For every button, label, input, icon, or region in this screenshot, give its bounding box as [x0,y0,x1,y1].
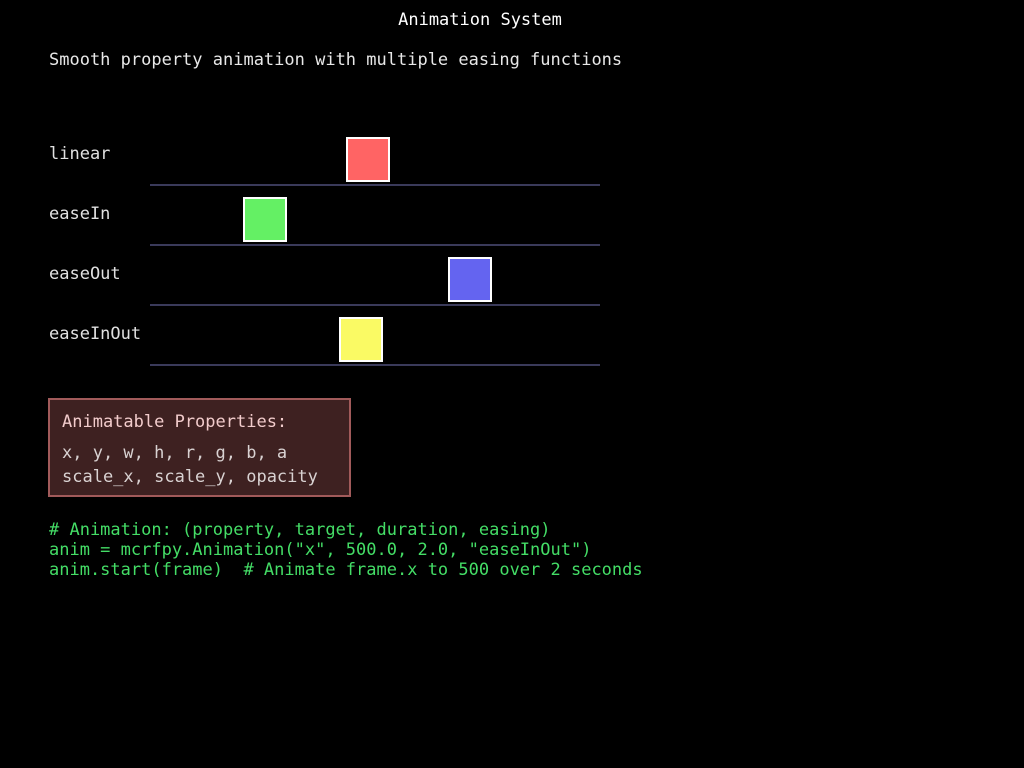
easing-animated-box[interactable] [346,137,390,182]
easing-track-easeout: easeOut [0,245,1024,305]
easing-animated-box[interactable] [448,257,492,302]
code-line: anim = mcrfpy.Animation("x", 500.0, 2.0,… [49,540,643,560]
animatable-properties-line: x, y, w, h, r, g, b, a [62,442,287,464]
easing-track-linear: linear [0,125,1024,185]
easing-track-label: easeOut [49,263,121,285]
easing-animated-box[interactable] [339,317,383,362]
easing-track-line [150,364,600,366]
easing-track-label: easeInOut [49,323,141,345]
easing-animated-box[interactable] [243,197,287,242]
code-line: # Animation: (property, target, duration… [49,520,643,540]
easing-track-easeinout: easeInOut [0,305,1024,365]
code-example: # Animation: (property, target, duration… [49,520,643,580]
easing-track-label: easeIn [49,203,110,225]
animatable-properties-panel: Animatable Properties: x, y, w, h, r, g,… [48,398,351,497]
page-subtitle: Smooth property animation with multiple … [49,49,622,71]
code-line: anim.start(frame) # Animate frame.x to 5… [49,560,643,580]
animatable-properties-line: scale_x, scale_y, opacity [62,466,318,488]
easing-track-easein: easeIn [0,185,1024,245]
animatable-properties-title: Animatable Properties: [62,411,287,433]
easing-track-label: linear [49,143,110,165]
page-title: Animation System [0,9,960,31]
